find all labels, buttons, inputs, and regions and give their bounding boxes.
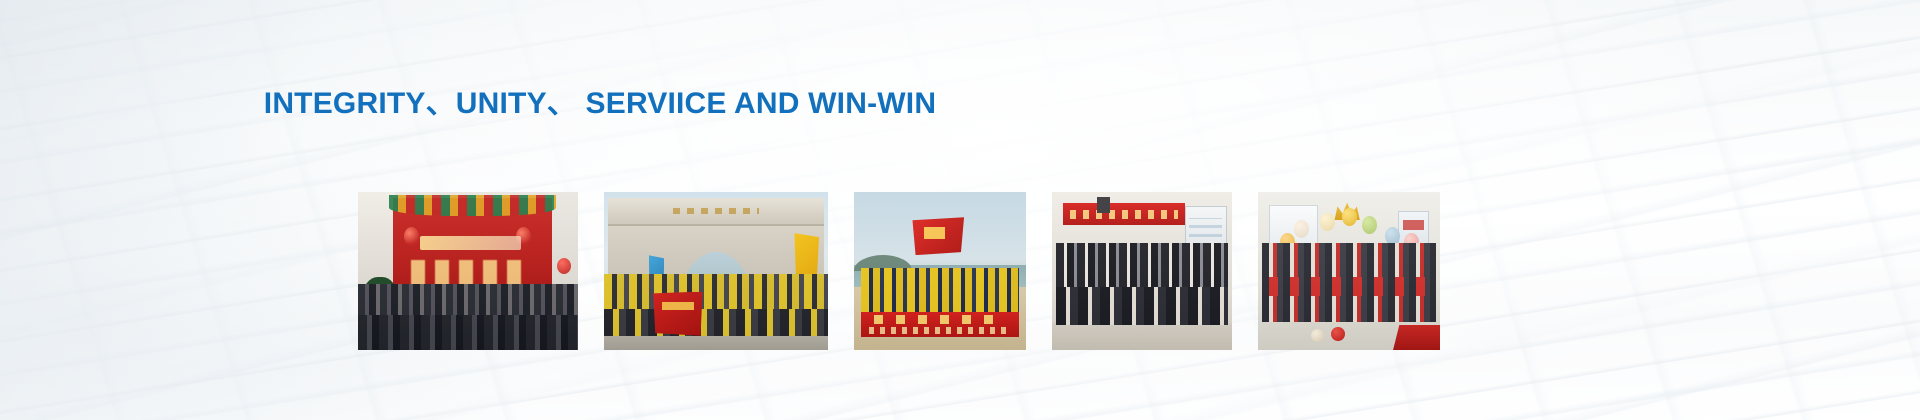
photo5-floor-balloon-cream: [1311, 329, 1324, 342]
banner-headline: INTEGRITY、UNITY、 SERVIICE AND WIN-WIN: [0, 78, 1200, 122]
gallery-photo[interactable]: [854, 192, 1026, 350]
photo2-people-front: [604, 309, 828, 337]
photo3-banner-line-2: [869, 327, 1011, 334]
gallery-photo[interactable]: [604, 192, 828, 350]
photo4-floor: [1052, 323, 1232, 350]
photo1-drape: [389, 195, 556, 216]
photo4-people-front: [1056, 287, 1229, 325]
photo5-balloon: [1362, 216, 1377, 234]
photo3-red-banner: [861, 312, 1019, 337]
photo-party-red-envelopes-scene: [1258, 192, 1440, 350]
company-culture-banner: INTEGRITY、UNITY、 SERVIICE AND WIN-WIN: [0, 0, 1920, 420]
photo1-lantern-left: [404, 227, 419, 246]
photo3-banner-line-1: [874, 315, 1007, 324]
photo1-people-front: [358, 315, 578, 350]
photo-office-ceremony-scene: [1052, 192, 1232, 350]
photo5-balloon: [1342, 208, 1357, 226]
photo2-red-flag: [653, 292, 702, 336]
gallery-photo[interactable]: [1258, 192, 1440, 350]
photo-beach-trip-scene: [854, 192, 1026, 350]
photo5-floor-balloon-red: [1331, 327, 1345, 341]
gallery-photo[interactable]: [1052, 192, 1232, 350]
photo4-red-banner: [1063, 203, 1185, 225]
photo3-people: [861, 268, 1019, 315]
photo5-red-carpet: [1393, 325, 1440, 350]
photo1-company-text: [420, 236, 521, 250]
photo5-balloon: [1320, 213, 1335, 231]
photo-annual-meeting-scene: [358, 192, 578, 350]
photo4-speaker: [1097, 197, 1110, 213]
photo5-red-envelopes: [1269, 277, 1429, 296]
photo-mountain-outing-scene: [604, 192, 828, 350]
photo2-ground: [604, 336, 828, 350]
photo2-lintel: [608, 198, 823, 225]
photo-gallery-strip: [358, 192, 1578, 350]
gallery-photo[interactable]: [358, 192, 578, 350]
photo3-red-flag: [912, 217, 964, 255]
photo1-slogan-text: [411, 260, 530, 285]
